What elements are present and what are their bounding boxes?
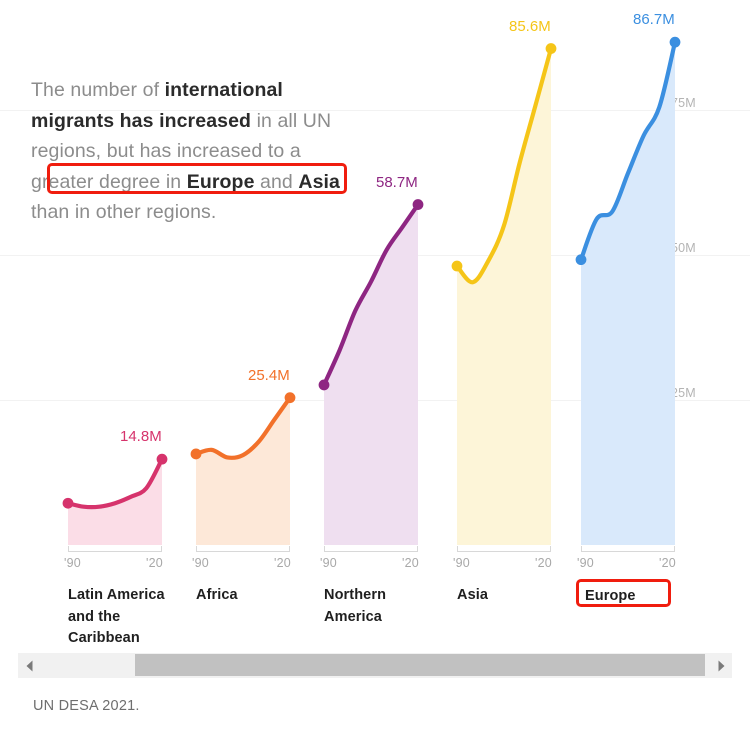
panel-plot xyxy=(324,0,418,650)
x-axis-line xyxy=(196,551,290,552)
panel-name-line: Europe xyxy=(585,586,636,608)
series-value-label: 86.7M xyxy=(633,11,675,28)
small-multiples-chart: 25M50M75M'90'2014.8MLatin Americaand the… xyxy=(0,0,750,650)
panel-name-africa[interactable]: Africa xyxy=(196,585,238,607)
x-axis-tick xyxy=(196,546,197,552)
chart-panel-partial xyxy=(0,0,34,650)
panel-name-asia[interactable]: Asia xyxy=(457,585,488,607)
end-point-marker xyxy=(670,37,681,48)
x-axis-tick xyxy=(324,546,325,552)
x-tick-label: '90 xyxy=(320,556,337,570)
x-axis-tick xyxy=(550,546,551,552)
chart-panel[interactable] xyxy=(68,0,162,650)
panel-name-northern-america[interactable]: NorthernAmerica xyxy=(324,585,386,628)
x-axis-tick xyxy=(161,546,162,552)
area-fill xyxy=(324,205,418,545)
chart-page: The number of international migrants has… xyxy=(0,0,750,749)
source-note: UN DESA 2021. xyxy=(33,698,140,714)
chart-panel[interactable] xyxy=(457,0,551,650)
scroll-right-arrow-icon[interactable] xyxy=(710,653,732,678)
start-point-marker xyxy=(63,498,74,509)
series-value-label: 25.4M xyxy=(248,367,290,384)
series-value-label: 85.6M xyxy=(509,18,551,35)
end-point-marker xyxy=(546,43,557,54)
horizontal-scrollbar[interactable] xyxy=(18,653,732,678)
series-value-label: 14.8M xyxy=(120,428,162,445)
panel-name-europe[interactable]: Europe xyxy=(585,586,636,608)
area-fill xyxy=(581,42,675,545)
panel-name-line: America xyxy=(324,607,386,629)
x-tick-label: '90 xyxy=(453,556,470,570)
start-point-marker xyxy=(576,254,587,265)
x-axis-tick xyxy=(68,546,69,552)
x-tick-label: '90 xyxy=(192,556,209,570)
x-tick-label: '90 xyxy=(577,556,594,570)
area-fill xyxy=(457,49,551,545)
x-tick-label: '90 xyxy=(64,556,81,570)
series-value-label: 58.7M xyxy=(376,174,418,191)
panel-plot xyxy=(68,0,162,650)
end-point-marker xyxy=(413,199,424,210)
panel-name-line: Northern xyxy=(324,585,386,607)
panel-name-line: Latin America xyxy=(68,585,165,607)
x-axis-line xyxy=(324,551,418,552)
scrollbar-track[interactable] xyxy=(40,653,710,678)
x-axis-tick xyxy=(581,546,582,552)
x-axis-line xyxy=(581,551,675,552)
x-axis-tick xyxy=(289,546,290,552)
x-tick-label: '20 xyxy=(535,556,552,570)
x-tick-label: '20 xyxy=(146,556,163,570)
panel-plot xyxy=(581,0,675,650)
x-axis-line xyxy=(68,551,162,552)
chart-panel[interactable] xyxy=(581,0,675,650)
start-point-marker xyxy=(452,261,463,272)
start-point-marker xyxy=(319,380,330,391)
scroll-left-arrow-icon[interactable] xyxy=(18,653,40,678)
x-tick-label: '20 xyxy=(659,556,676,570)
panel-name-line: and the xyxy=(68,607,165,629)
panel-name-line: Caribbean xyxy=(68,628,165,650)
panel-name-line: Asia xyxy=(457,585,488,607)
x-axis-line xyxy=(457,551,551,552)
end-point-marker xyxy=(157,454,168,465)
start-point-marker xyxy=(191,449,202,460)
x-axis-tick xyxy=(674,546,675,552)
x-axis-tick xyxy=(457,546,458,552)
x-tick-label: '20 xyxy=(274,556,291,570)
x-tick-label: '20 xyxy=(402,556,419,570)
chart-panel[interactable] xyxy=(324,0,418,650)
panel-plot xyxy=(196,0,290,650)
panel-name-line: Africa xyxy=(196,585,238,607)
end-point-marker xyxy=(285,392,296,403)
x-axis-tick xyxy=(417,546,418,552)
scrollbar-thumb[interactable] xyxy=(135,654,705,676)
chart-panel[interactable] xyxy=(196,0,290,650)
panel-plot xyxy=(457,0,551,650)
panel-name-latin-america-and-the-caribbean[interactable]: Latin Americaand theCaribbean xyxy=(68,585,165,650)
